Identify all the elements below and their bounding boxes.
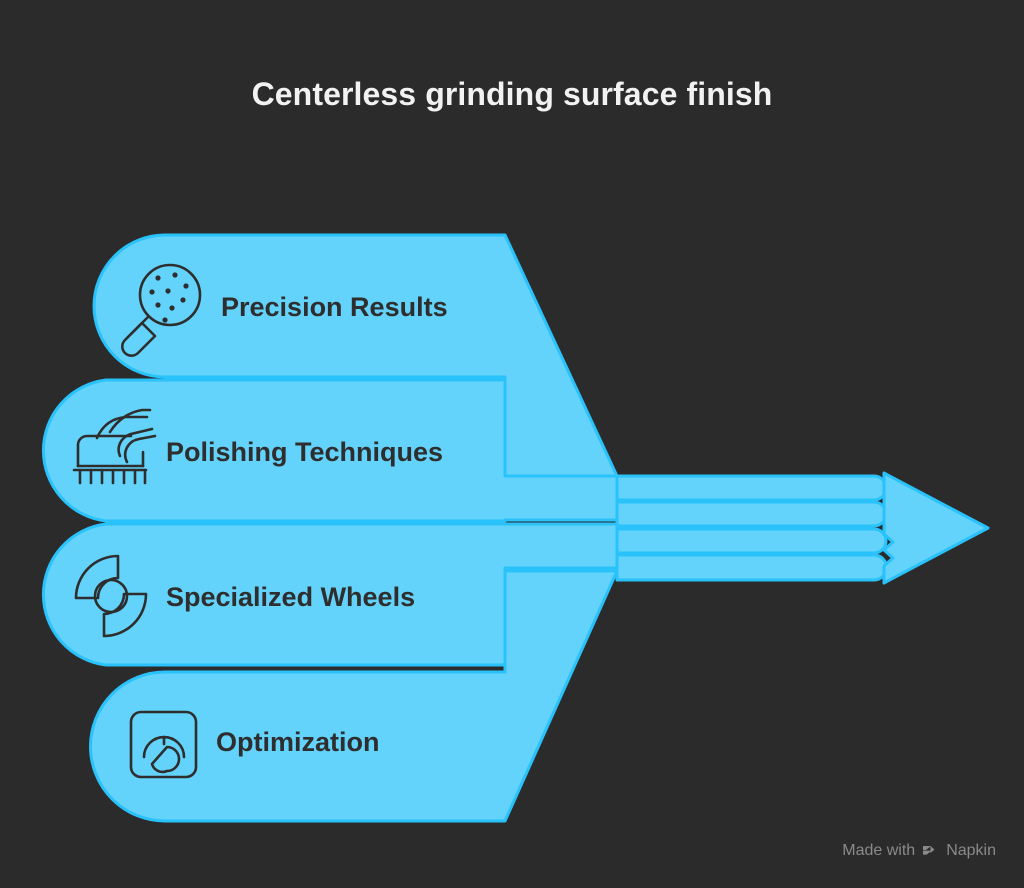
napkin-logo-icon	[922, 843, 939, 860]
row-1-label: Precision Results	[221, 292, 448, 322]
arrow-diagram: Precision Results	[0, 0, 1024, 888]
row-4-label: Optimization	[216, 727, 380, 757]
shaft-stripe-2	[617, 502, 886, 526]
shaft-stripe-1	[617, 476, 886, 500]
arrow-head-triangle	[884, 473, 988, 583]
row-2-label: Polishing Techniques	[166, 437, 443, 467]
watermark: Made with Napkin	[842, 842, 996, 860]
watermark-brand: Napkin	[946, 842, 996, 860]
shaft-stripe-4	[617, 555, 887, 580]
diagram-canvas: Centerless grinding surface finish	[0, 0, 1024, 888]
arrow-head	[884, 473, 988, 583]
arrow-shaft	[617, 476, 887, 580]
watermark-prefix: Made with	[842, 842, 915, 860]
shaft-stripe-3	[617, 529, 886, 553]
row-3-label: Specialized Wheels	[166, 582, 415, 612]
